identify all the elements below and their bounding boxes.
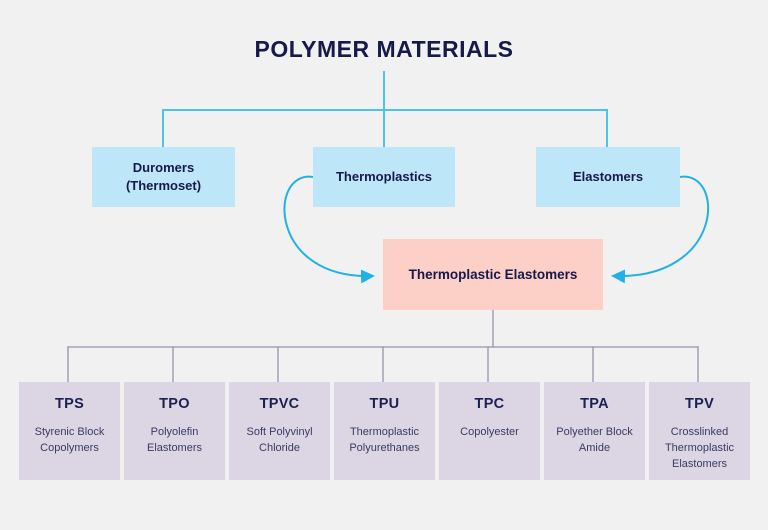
node-tps-code: TPS: [55, 396, 84, 412]
node-tpu-desc: Thermoplastic Polyurethanes: [334, 425, 435, 457]
node-tpa[interactable]: TPA Polyether Block Amide: [544, 382, 645, 480]
node-tpc-desc: Copolyester: [456, 425, 523, 441]
node-tps-desc: Styrenic Block Copolymers: [19, 425, 120, 457]
node-duromers-line2: (Thermoset): [126, 177, 201, 195]
node-duromers-line1: Duromers: [133, 159, 194, 177]
node-elastomers-label: Elastomers: [573, 168, 643, 186]
node-thermoplastics[interactable]: Thermoplastics: [313, 147, 455, 207]
node-tps[interactable]: TPS Styrenic Block Copolymers: [19, 382, 120, 480]
diagram-canvas: POLYMER MATERIALS Duromers (Thermoset) T…: [0, 0, 768, 530]
node-tpu[interactable]: TPU Thermoplastic Polyurethanes: [334, 382, 435, 480]
node-tpo-desc: Polyolefin Elastomers: [124, 425, 225, 457]
node-tpvc[interactable]: TPVC Soft Polyvinyl Chloride: [229, 382, 330, 480]
page-title: POLYMER MATERIALS: [0, 36, 768, 63]
node-thermoplastic-elastomers-label: Thermoplastic Elastomers: [409, 267, 578, 282]
node-tpvc-code: TPVC: [260, 396, 300, 412]
node-tpc-code: TPC: [475, 396, 505, 412]
node-tpo-code: TPO: [159, 396, 190, 412]
node-thermoplastics-label: Thermoplastics: [336, 168, 432, 186]
node-tpvc-desc: Soft Polyvinyl Chloride: [229, 425, 330, 457]
node-duromers[interactable]: Duromers (Thermoset): [92, 147, 235, 207]
node-tpu-code: TPU: [370, 396, 400, 412]
node-tpv-code: TPV: [685, 396, 714, 412]
node-tpa-code: TPA: [580, 396, 609, 412]
node-tpv-desc: Crosslinked Thermoplastic Elastomers: [649, 425, 750, 473]
node-tpa-desc: Polyether Block Amide: [544, 425, 645, 457]
node-tpv[interactable]: TPV Crosslinked Thermoplastic Elastomers: [649, 382, 750, 480]
node-elastomers[interactable]: Elastomers: [536, 147, 680, 207]
node-thermoplastic-elastomers[interactable]: Thermoplastic Elastomers: [383, 239, 603, 310]
node-tpc[interactable]: TPC Copolyester: [439, 382, 540, 480]
node-tpo[interactable]: TPO Polyolefin Elastomers: [124, 382, 225, 480]
